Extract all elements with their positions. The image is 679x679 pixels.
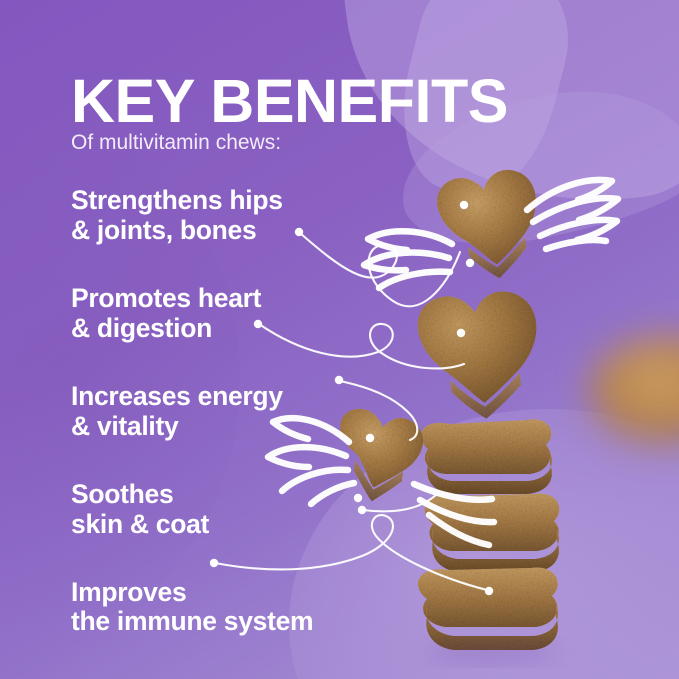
connector-dot-treat-3: [457, 329, 465, 337]
benefit-item-2: Promotes heart & digestion: [71, 284, 401, 344]
connector-dot-treat-2: [466, 259, 474, 267]
benefit-item-4: Soothes skin & coat: [71, 480, 401, 540]
angel-wings-top-right: [527, 180, 618, 249]
benefits-list: Strengthens hips & joints, bones Promote…: [71, 186, 401, 637]
connector-dot-treat-1: [460, 201, 468, 209]
connector-dot-treat-6: [485, 587, 493, 595]
page-subtitle: Of multivitamin chews:: [71, 131, 281, 154]
benefit-item-5: Improves the immune system: [71, 578, 401, 638]
key-benefits-poster: KEY BENEFITS Of multivitamin chews: Stre…: [0, 0, 679, 679]
benefit-item-1: Strengthens hips & joints, bones: [71, 186, 401, 246]
benefit-item-3: Increases energy & vitality: [71, 382, 401, 442]
page-title: KEY BENEFITS: [71, 71, 508, 132]
